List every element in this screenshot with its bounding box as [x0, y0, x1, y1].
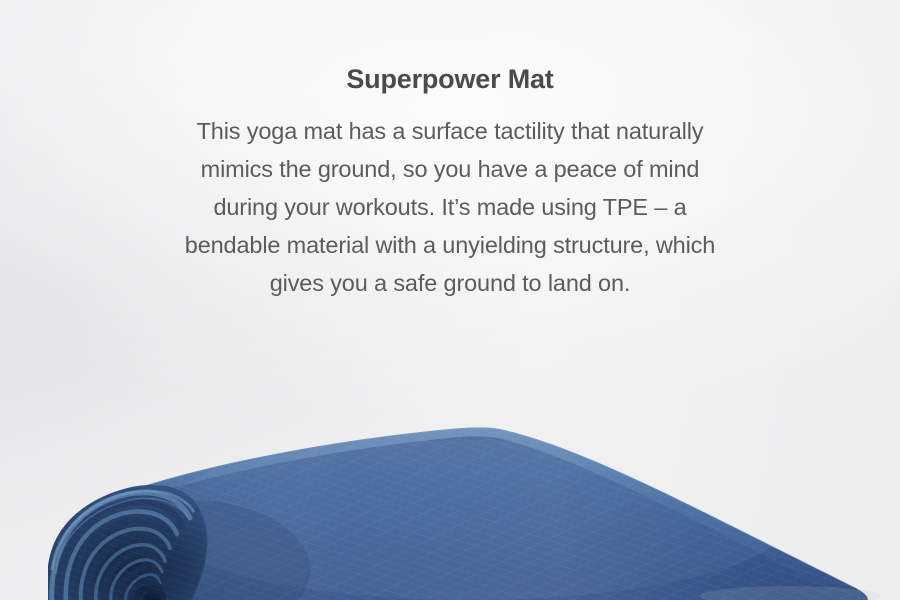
description-line: bendable material with a unyielding stru…: [120, 226, 780, 264]
description-line: gives you a safe ground to land on.: [120, 264, 780, 302]
description-line: mimics the ground, so you have a peace o…: [120, 150, 780, 188]
product-card: Superpower Mat This yoga mat has a surfa…: [0, 0, 900, 600]
product-copy-block: Superpower Mat This yoga mat has a surfa…: [0, 0, 900, 302]
product-description: This yoga mat has a surface tactility th…: [120, 95, 780, 302]
description-line: during your workouts. It’s made using TP…: [120, 188, 780, 226]
description-line: This yoga mat has a surface tactility th…: [120, 112, 780, 150]
product-image-rolled-yoga-mat: [0, 380, 900, 600]
page-title: Superpower Mat: [0, 0, 900, 95]
